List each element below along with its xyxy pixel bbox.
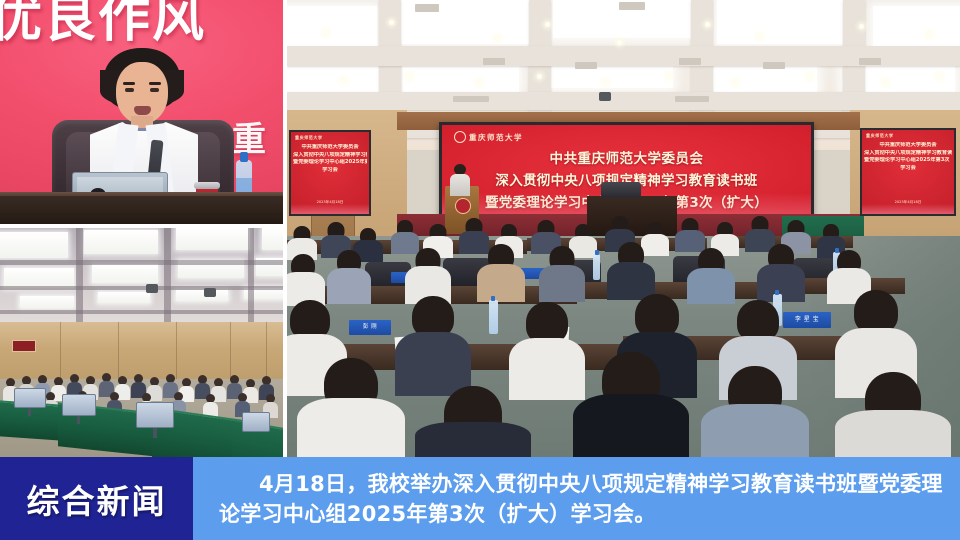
audience-member [287, 254, 325, 306]
speaker-face [116, 62, 168, 124]
caption-text: 4月18日，我校举办深入贯彻中央八项规定精神学习教育读书班暨党委理论学习中心组2… [219, 469, 946, 529]
side-left-line-2: 深入贯彻中央八项规定精神学习教育读书班 [293, 152, 367, 160]
hall-monitor [136, 402, 174, 428]
side-left-logo-text: 重庆师范大学 [295, 135, 323, 141]
eyebrow-right [149, 82, 161, 85]
side-left-line-1: 中共重庆师范大学委员会 [293, 144, 367, 152]
audience-member-foreground [835, 372, 951, 457]
backdrop-side-text: 重 [232, 112, 266, 161]
main-meeting-photo: 重庆师范大学 中共重庆师范大学委员会 深入贯彻中央八项规定精神学习教育读书班 暨… [287, 0, 960, 457]
hall-monitor [14, 388, 46, 408]
audience-member-foreground [297, 358, 405, 457]
water-bottle [489, 300, 498, 334]
audience-member [539, 246, 585, 302]
audience-member-foreground [573, 352, 689, 457]
eye-left [125, 88, 134, 92]
hall-ceiling [0, 228, 283, 326]
hall-monitor [62, 394, 96, 416]
nameplate-front-left: 彭 刚 [349, 320, 391, 335]
audience-member [607, 242, 655, 300]
category-tag[interactable]: 综合新闻 [0, 457, 193, 540]
university-seal-icon [454, 131, 466, 143]
audience-member-foreground [415, 386, 531, 457]
side-right-logo-text: 重庆师范大学 [866, 133, 894, 139]
hall-monitor [242, 412, 270, 432]
backdrop-headline-text: 优良作风 [0, 0, 283, 44]
side-left-screen-body: 中共重庆师范大学委员会 深入贯彻中央八项规定精神学习教育读书班 暨党委理论学习中… [293, 144, 367, 174]
side-left-line-4: 学习会 [293, 167, 367, 175]
audience-member [675, 218, 705, 252]
water-bottle [593, 254, 600, 280]
side-right-glow [862, 204, 954, 214]
audience-member [477, 244, 525, 302]
category-tag-label: 综合新闻 [27, 475, 167, 523]
caption-body: 4月18日，我校举办深入贯彻中央八项规定精神学习教育读书班暨党委理论学习中心组2… [193, 457, 960, 540]
screen-line-1: 中共重庆师范大学委员会 [442, 147, 811, 167]
side-right-line-4: 学习会 [864, 165, 952, 173]
mouth [134, 106, 151, 115]
side-right-line-2: 深入贯彻中央八项规定精神学习教育读书班 [864, 150, 952, 158]
audience-member-foreground [701, 366, 809, 457]
audience-member [395, 296, 471, 396]
speaker-at-podium-photo: 优良作风 重 [0, 0, 283, 224]
side-left-line-3: 暨党委理论学习中心组2025年第3次（扩大） [293, 159, 367, 167]
side-right-line-1: 中共重庆师范大学委员会 [864, 142, 952, 150]
podium-speaker-body [450, 174, 470, 196]
eyebrow-left [123, 82, 135, 85]
caption-bar: 综合新闻 4月18日，我校举办深入贯彻中央八项规定精神学习教育读书班暨党委理论学… [0, 457, 960, 540]
side-led-screen-left: 重庆师范大学 中共重庆师范大学委员会 深入贯彻中央八项规定精神学习教育读书班 暨… [289, 130, 371, 216]
ceiling-projector [599, 92, 611, 101]
eye-right [150, 88, 159, 92]
side-right-screen-body: 中共重庆师范大学委员会 深入贯彻中央八项规定精神学习教育读书班 暨党委理论学习中… [864, 142, 952, 172]
podium-speaker-figure [449, 164, 471, 194]
university-logo-text: 重庆师范大学 [469, 132, 523, 143]
side-led-screen-right: 重庆师范大学 中共重庆师范大学委员会 深入贯彻中央八项规定精神学习教育读书班 暨… [860, 128, 956, 216]
university-logo: 重庆师范大学 [454, 131, 523, 143]
wall-plaque [12, 340, 36, 352]
audience-member [327, 250, 371, 304]
side-left-glow [291, 204, 369, 214]
photo-collage: 优良作风 重 [0, 0, 960, 457]
desk-front [0, 196, 283, 224]
news-photo-card: 优良作风 重 [0, 0, 960, 540]
conference-hall-wide-photo [0, 228, 283, 457]
side-right-line-3: 暨党委理论学习中心组2025年第3次（扩大） [864, 157, 952, 165]
